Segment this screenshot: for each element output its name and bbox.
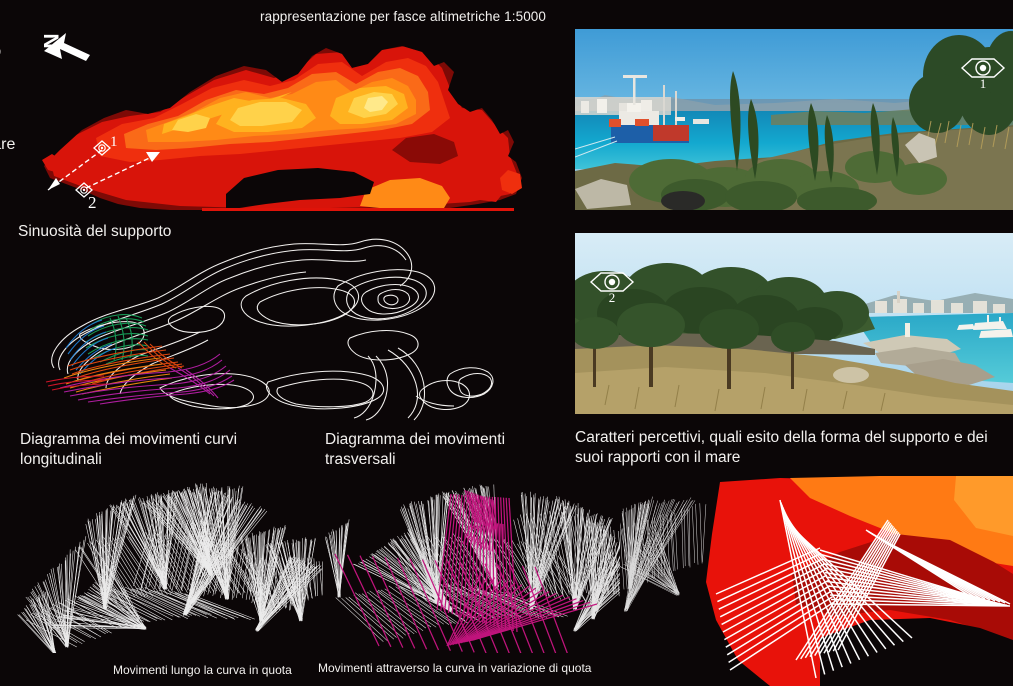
page-title: rappresentazione per fasce altimetriche … <box>260 8 546 25</box>
diagramma-movimenti-longitudinali <box>15 478 325 653</box>
caption-lungo-curva: Movimenti lungo la curva in quota <box>113 663 292 678</box>
left-note-block-a: posto per llo <box>0 41 1 107</box>
heading-caratteri-percettivi: Caratteri percettivi, quali esito della … <box>575 428 988 468</box>
viewpoint-label-1: 1 <box>110 134 118 150</box>
elevation-band-group <box>30 38 530 220</box>
contour-lines-svg <box>20 238 520 423</box>
viewpoint-eye-1: 1 <box>960 57 1006 93</box>
contour-map <box>20 238 520 423</box>
movement-overlay <box>46 315 234 404</box>
presentation-board: rappresentazione per fasce altimetriche … <box>0 0 1013 686</box>
elevation-bands-svg: 1 2 <box>30 38 530 220</box>
shoreline-base <box>202 208 514 211</box>
photo-panorama-2: 2 <box>575 233 1013 414</box>
diagramma-sovrapposto-fasce <box>620 470 1013 686</box>
elevation-map: 1 2 <box>30 38 530 218</box>
viewpoint-eye-1-label: 1 <box>960 76 1006 92</box>
heading-movimenti-trasversali: Diagramma dei movimenti trasversali <box>325 430 505 470</box>
caption-attraverso-curva: Movimenti attraverso la curva in variazi… <box>318 661 591 676</box>
photo-panorama-1: 1 <box>575 29 1013 210</box>
viewpoint-eye-2-label: 2 <box>589 290 635 306</box>
transversal-burst-svg <box>325 478 635 653</box>
photo1-svg <box>575 29 1013 210</box>
diagramma-movimenti-trasversali <box>325 478 635 653</box>
overlay-burst-svg <box>620 470 1013 686</box>
left-note-block-b: a: erare <box>0 112 15 156</box>
longitudinal-burst-svg <box>15 478 325 653</box>
photo2-svg <box>575 233 1013 414</box>
heading-movimenti-longitudinali: Diagramma dei movimenti curvi longitudin… <box>20 430 237 470</box>
viewpoint-label-2: 2 <box>88 193 97 212</box>
viewpoint-eye-2: 2 <box>589 271 635 307</box>
